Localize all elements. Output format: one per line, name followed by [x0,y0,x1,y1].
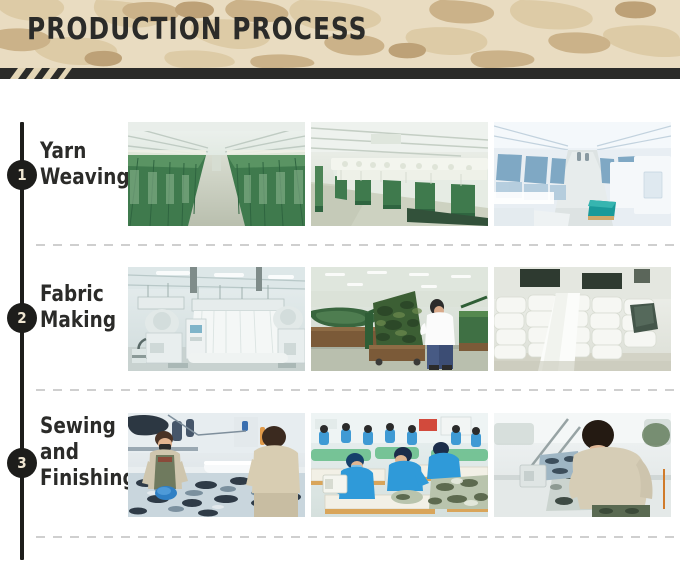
step-label-3-line-3: Finishing [40,466,136,492]
photo-step1-2[interactable] [311,122,488,226]
photo-step3-3[interactable] [494,413,671,517]
step-badge-1: 1 [7,160,37,190]
step-label-3: Sewing and Finishing [40,414,136,492]
step-badge-3: 3 [7,448,37,478]
photo-step1-3[interactable] [494,122,671,226]
photo-step2-2[interactable] [311,267,488,371]
header-accent-bar [0,68,680,79]
step-number-1: 1 [17,168,26,183]
step-label-1: Yarn Weaving [40,139,130,191]
step-label-2: Fabric Making [40,282,116,334]
page-title: PRODUCTION PROCESS [27,13,367,47]
step-label-2-line-1: Fabric [40,282,116,308]
step-number-3: 3 [17,456,26,471]
photo-step3-2[interactable] [311,413,488,517]
photo-step3-1[interactable] [128,413,305,517]
step-badge-2: 2 [7,303,37,333]
step-label-3-line-1: Sewing [40,414,136,440]
page-header: PRODUCTION PROCESS [0,0,680,68]
step-number-2: 2 [17,311,26,326]
step-label-1-line-2: Weaving [40,165,130,191]
section-divider-1 [36,244,676,246]
photo-step2-3[interactable] [494,267,671,371]
photo-step1-1[interactable] [128,122,305,226]
step-label-2-line-2: Making [40,308,116,334]
step-label-3-line-2: and [40,440,136,466]
diagonal-stripes-icon [0,68,72,79]
photo-step2-1[interactable] [128,267,305,371]
step-label-1-line-1: Yarn [40,139,130,165]
section-divider-3 [36,536,676,538]
production-process-page: PRODUCTION PROCESS 1 Yarn Weaving [0,0,680,581]
section-divider-2 [36,389,676,391]
